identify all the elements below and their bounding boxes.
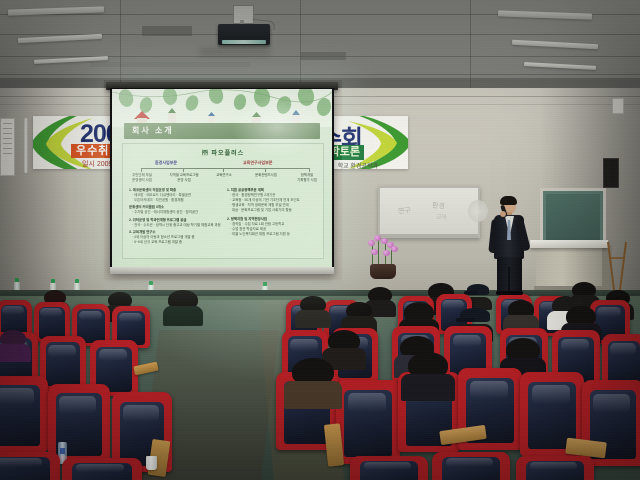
ceiling-light (18, 34, 102, 43)
podium-top (530, 240, 608, 248)
wall-pipe (24, 118, 28, 173)
easel-stand (604, 240, 632, 292)
banner-right-caption: 학교 환경공학과 (338, 161, 378, 169)
audience-member (0, 330, 26, 360)
auditorium-seat (62, 458, 142, 480)
wall-fan (468, 200, 488, 222)
projector-lens (222, 40, 266, 44)
org-node: 주민단체 부설운영센터 사업 (125, 173, 159, 182)
slide-bullets-right: 1. 지원 공공정책부문 계획 · 한국 · 환경정책연구원 2개기관 · 교육… (227, 188, 319, 237)
audience-member (292, 358, 334, 406)
org-left-label: 환경사업부문 (155, 160, 177, 166)
org-node: 문화컨텐츠사업 (249, 173, 283, 178)
slide-body: ㈜ 파오플러스 환경사업부문 교육연구사업부문 주민단체 부설운영센터 사업 지… (122, 143, 324, 259)
audience-member (408, 352, 448, 398)
auditorium-seat (336, 380, 400, 464)
projection-screen: 회사 소개 ㈜ 파오플러스 환경사업부문 교육연구사업부문 주민단체 부설운영센… (110, 88, 334, 274)
slide-subtitle: ㈜ 파오플러스 (123, 148, 323, 157)
wall-speaker (603, 158, 619, 188)
org-node: 교육연구소 (209, 173, 239, 178)
auditorium-seat (0, 452, 60, 480)
whiteboard: 연구 환경 교육 (378, 186, 480, 238)
ceiling-light (498, 10, 592, 19)
audience-member (300, 296, 326, 326)
slide-header-illustration (112, 89, 332, 127)
wall-notice-poster (0, 118, 15, 176)
presenter-speaker (487, 197, 533, 295)
screen-bottom-weight-bar (110, 267, 334, 274)
auditorium-photo: 200 우수취업 일시 2009. 수회 강전학토론 학교 환경공학과 (0, 0, 640, 480)
presentation-slide: 회사 소개 ㈜ 파오플러스 환경사업부문 교육연구사업부문 주민단체 부설운영센… (112, 89, 332, 267)
wall-junction-box (612, 98, 624, 114)
flower-pot (370, 264, 396, 279)
audience-member (168, 290, 198, 324)
auditorium-seat (0, 376, 48, 452)
ceiling-vent (300, 52, 346, 60)
presenter-hair (500, 196, 517, 205)
orchid-arrangement (362, 232, 404, 280)
auditorium-seat (432, 452, 510, 480)
org-node: 정책개발기획평가 사업 (291, 173, 323, 182)
presenter-shoes (496, 291, 523, 295)
auditorium-seat (350, 456, 428, 480)
ceiling-light (524, 62, 596, 70)
ceiling-light (512, 40, 598, 49)
paper-cup (146, 456, 157, 470)
ceiling-vent (142, 26, 192, 36)
org-node: 지역별 교육프로그램운영 사업 (167, 173, 201, 182)
org-right-label: 교육연구사업부문 (243, 160, 272, 166)
slide-title: 회사 소개 (132, 125, 174, 136)
slide-bullets-left: 1. 에코문화센터 직접운영 및 확충 · 에코팜 · 에코로드 다큐멘터리 ·… (129, 188, 221, 245)
auditorium-seat (516, 456, 594, 480)
